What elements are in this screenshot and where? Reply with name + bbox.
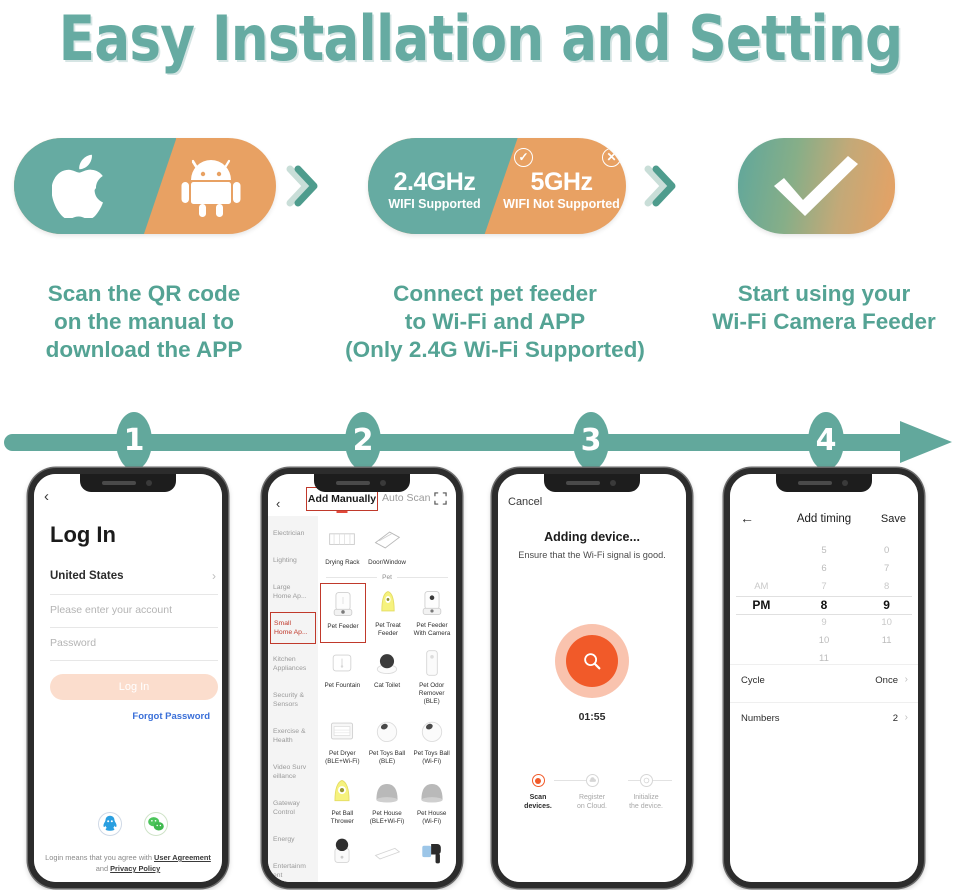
row-cycle-value: Once [875, 675, 898, 686]
hour-cell-2[interactable]: 7 [793, 578, 856, 596]
category-item-4[interactable]: KitchenAppliances [268, 646, 318, 682]
category-item-9[interactable]: Energy [268, 826, 318, 853]
scan-frame-icon[interactable] [434, 492, 447, 505]
add-device-screen: ‹ Add Manually Auto Scan ElectricianLigh… [268, 474, 456, 882]
add-device-body: ElectricianLightingLargeHome Ap...SmallH… [268, 516, 456, 882]
social-login-row [34, 812, 222, 838]
chevron-right-icon: › [212, 569, 216, 583]
check-circle-icon: ✓ [514, 148, 533, 167]
hour-cell-1[interactable]: 6 [793, 560, 856, 578]
device-item[interactable]: Pet BallThrower [320, 771, 365, 831]
device-item[interactable]: Pet House(BLE+Wi-Fi) [365, 771, 410, 831]
category-item-5[interactable]: Security &Sensors [268, 682, 318, 718]
category-item-0[interactable]: Electrician [268, 520, 318, 547]
pet-collar-icon [410, 834, 453, 868]
phone-notch [544, 474, 640, 492]
phone-notch [80, 474, 176, 492]
minute-cell-2[interactable]: 8 [855, 578, 918, 596]
picker-column-minute[interactable]: 07891011 [855, 542, 918, 668]
progress-step-label: Initializethe device. [620, 793, 672, 811]
ampm-cell-1[interactable] [730, 560, 793, 578]
progress-step-1: Registeron Cloud. [566, 774, 618, 811]
minute-cell-5[interactable]: 11 [855, 632, 918, 650]
step-badge-2: 2 [345, 412, 381, 470]
step-badge-1: 1 [116, 412, 152, 470]
device-item-label: Cat Toilet [366, 682, 409, 690]
step-badge-4: 4 [808, 412, 844, 470]
pet-treat-feeder-icon [367, 586, 409, 620]
device-item[interactable]: Pet Toys Ball(Wi-Fi) [409, 711, 454, 771]
cloud-icon [586, 774, 599, 787]
initialize-icon [640, 774, 653, 787]
ampm-cell-0[interactable] [730, 542, 793, 560]
phone-notch [314, 474, 410, 492]
picker-column-ampm[interactable]: AMPM [730, 542, 793, 668]
speaker-grille [102, 481, 136, 485]
drying-rack-icon [321, 523, 364, 557]
hour-cell-0[interactable]: 5 [793, 542, 856, 560]
device-row-0: Pet FeederPet TreatFeederPet FeederWith … [320, 583, 454, 643]
device-item[interactable]: Pet FeederWith Camera [410, 583, 454, 643]
cancel-button[interactable]: Cancel [508, 496, 542, 508]
page-title: Easy Installation and Setting [58, 8, 902, 70]
device-item[interactable]: Pet TreatFeeder [366, 583, 410, 643]
device-row-2: Pet Dryer(BLE+Wi-Fi)Pet Toys Ball(BLE)Pe… [320, 711, 454, 771]
adding-device-subtitle: Ensure that the Wi-Fi signal is good. [498, 550, 686, 560]
pet-camera-icon [321, 834, 364, 868]
pet-house-wifi-icon [410, 774, 453, 808]
user-agreement-link[interactable]: User Agreement [154, 853, 211, 862]
ampm-cell-5[interactable] [730, 632, 793, 650]
chevron-right-icon: › [905, 674, 908, 685]
speaker-grille [336, 481, 370, 485]
scan-dot-icon [532, 774, 545, 787]
minute-cell-1[interactable]: 7 [855, 560, 918, 578]
phone-notch [776, 474, 872, 492]
password-input[interactable]: Password [50, 632, 218, 661]
category-item-8[interactable]: GatewayControl [268, 790, 318, 826]
wifi-24ghz-label: 2.4GHz [370, 168, 499, 196]
device-item-label: Pet TreatFeeder [367, 622, 409, 638]
device-item-label: Pet Fountain [321, 682, 364, 690]
scanning-spinner [555, 624, 629, 698]
apple-android-pill [14, 138, 276, 234]
picker-column-hour[interactable]: 567891011 [793, 542, 856, 668]
time-picker[interactable]: AMPM 567891011 07891011 [730, 542, 918, 650]
device-item-label: Pet BallThrower [321, 810, 364, 826]
ampm-cell-4[interactable] [730, 614, 793, 632]
pet-fountain-icon [321, 646, 364, 680]
chevron-right-separator-icon [286, 164, 320, 208]
device-item-label: Pet OdorRemover(BLE) [410, 682, 453, 706]
device-item[interactable] [409, 831, 454, 875]
cross-circle-icon: ✕ [602, 148, 621, 167]
divider-left [326, 577, 377, 578]
device-item-empty [409, 520, 454, 572]
section-header-pet: Pet [320, 572, 454, 583]
category-item-2[interactable]: LargeHome Ap... [268, 574, 318, 610]
front-camera-icon [380, 480, 386, 486]
device-item[interactable]: Pet Fountain [320, 643, 365, 711]
wifi-24ghz-block: 2.4GHz WIFI Supported [370, 168, 499, 212]
back-icon[interactable]: ‹ [276, 496, 280, 511]
country-value: United States [50, 570, 124, 582]
ampm-cell-3-selected[interactable]: PM [730, 596, 793, 614]
door-window-icon [366, 523, 409, 557]
speaker-grille [798, 481, 832, 485]
row-numbers[interactable]: Numbers 2 › [730, 702, 918, 735]
wifi-5ghz-block: 5GHz WIFI Not Supported [497, 168, 626, 212]
success-check-pill [738, 138, 895, 234]
device-item[interactable]: Pet OdorRemover(BLE) [409, 643, 454, 711]
captions-row: Scan the QR codeon the manual todownload… [0, 272, 960, 382]
tab-active-underline [337, 511, 348, 513]
terms-and: and [96, 864, 110, 873]
device-item[interactable]: Pet Toys Ball(BLE) [365, 711, 410, 771]
phone-mockup-adding: Cancel Adding device... Ensure that the … [492, 468, 692, 888]
password-placeholder: Password [50, 637, 96, 649]
pet-mat-icon [366, 834, 409, 868]
wechat-login-icon[interactable] [144, 812, 168, 836]
caption-step-2: Connect pet feederto Wi-Fi and APP(Only … [330, 280, 660, 364]
phone-mockup-add-timing: ← Add timing Save AMPM 567891011 0789101… [724, 468, 924, 888]
device-item[interactable]: Drying Rack [320, 520, 365, 572]
device-item-label: Pet Toys Ball(Wi-Fi) [410, 750, 453, 766]
category-item-7[interactable]: Video Surveillance [268, 754, 318, 790]
device-item-label: Pet Dryer(BLE+Wi-Fi) [321, 750, 364, 766]
section-label: Pet [382, 574, 392, 581]
category-item-10[interactable]: Entertainment [268, 853, 318, 888]
device-item-label: Door/Window [366, 559, 409, 567]
apple-icon [52, 154, 114, 218]
qq-login-icon[interactable] [98, 812, 122, 836]
progress-step-0: Scandevices. [512, 774, 564, 811]
login-title: Log In [50, 522, 116, 548]
category-item-6[interactable]: Exercise &Health [268, 718, 318, 754]
pet-toys-ball-ble-icon [366, 714, 409, 748]
category-item-3[interactable]: SmallHome Ap... [270, 612, 316, 644]
login-button[interactable]: Log In [50, 674, 218, 700]
terms-prefix: Login means that you agree with [45, 853, 154, 862]
cat-toilet-icon [366, 646, 409, 680]
chevron-right-icon: › [905, 712, 908, 723]
progress-arrow: 1 2 3 4 [0, 412, 960, 470]
terms-text: Login means that you agree with User Agr… [42, 852, 214, 874]
chevron-right-separator-icon-2 [644, 164, 678, 208]
wifi-24ghz-sublabel: WIFI Supported [370, 196, 499, 212]
forgot-password-link[interactable]: Forgot Password [132, 711, 210, 722]
phone-mockup-login: ‹ Log In United States › Please enter yo… [28, 468, 228, 888]
ampm-cell-2[interactable]: AM [730, 578, 793, 596]
tab-auto-scan[interactable]: Auto Scan [382, 492, 430, 504]
pet-ball-thrower-icon [321, 774, 364, 808]
row-cycle-key: Cycle [741, 675, 765, 686]
pet-dryer-icon [321, 714, 364, 748]
page-title-banner: Easy Installation and Setting [0, 0, 960, 78]
account-input[interactable]: Please enter your account [50, 599, 218, 628]
adding-device-title: Adding device... [498, 530, 686, 544]
search-magnifier-icon [581, 650, 603, 672]
account-placeholder: Please enter your account [50, 604, 172, 616]
minute-cell-3-selected[interactable]: 9 [855, 596, 918, 614]
device-item[interactable]: Cat Toilet [365, 643, 410, 711]
login-screen: ‹ Log In United States › Please enter yo… [34, 474, 222, 882]
back-icon[interactable]: ‹ [44, 488, 49, 505]
device-item[interactable] [320, 831, 365, 875]
add-timing-screen: ← Add timing Save AMPM 567891011 0789101… [730, 474, 918, 882]
arrow-head [900, 421, 952, 463]
device-grid: Drying RackDoor/WindowPetPet FeederPet T… [318, 516, 456, 882]
android-icon [180, 156, 242, 218]
front-camera-icon [610, 480, 616, 486]
device-item-label: Drying Rack [321, 559, 364, 567]
pet-odor-remover-icon [410, 646, 453, 680]
check-icon [768, 154, 864, 218]
device-row-top: Drying RackDoor/Window [320, 520, 454, 572]
front-camera-icon [842, 480, 848, 486]
hour-cell-5[interactable]: 10 [793, 632, 856, 650]
device-row-4 [320, 831, 454, 875]
adding-device-screen: Cancel Adding device... Ensure that the … [498, 474, 686, 882]
device-item[interactable]: Pet Dryer(BLE+Wi-Fi) [320, 711, 365, 771]
row-cycle[interactable]: Cycle Once › [730, 664, 918, 697]
divider-right [397, 577, 448, 578]
front-camera-icon [146, 480, 152, 486]
device-item[interactable]: Pet House(Wi-Fi) [409, 771, 454, 831]
hour-cell-3-selected[interactable]: 8 [793, 596, 856, 614]
caption-step-1: Scan the QR codeon the manual todownload… [4, 280, 284, 364]
device-item-label: Pet House(BLE+Wi-Fi) [366, 810, 409, 826]
progress-step-label: Scandevices. [512, 793, 564, 811]
step-badge-3: 3 [573, 412, 609, 470]
caption-step-3: Start using yourWi-Fi Camera Feeder [690, 280, 958, 336]
country-selector[interactable]: United States › [50, 566, 218, 595]
row-numbers-key: Numbers [741, 713, 780, 724]
device-item-label: Pet House(Wi-Fi) [410, 810, 453, 826]
hour-cell-4[interactable]: 9 [793, 614, 856, 632]
category-item-1[interactable]: Lighting [268, 547, 318, 574]
device-row-3: Pet BallThrowerPet House(BLE+Wi-Fi)Pet H… [320, 771, 454, 831]
scanning-spinner-core [566, 635, 618, 687]
pet-toys-ball-wifi-icon [410, 714, 453, 748]
add-timing-header: ← Add timing Save [730, 510, 918, 534]
wifi-5ghz-label: 5GHz [497, 168, 626, 196]
device-row-1: Pet FountainCat ToiletPet OdorRemover(BL… [320, 643, 454, 711]
progress-step-2: Initializethe device. [620, 774, 672, 811]
privacy-policy-link[interactable]: Privacy Policy [110, 864, 160, 873]
countdown-timer: 01:55 [498, 711, 686, 723]
row-numbers-value: 2 [893, 713, 898, 724]
progress-steps: Scandevices.Registeron Cloud.Initializet… [512, 774, 672, 811]
pet-feeder-icon [322, 587, 364, 621]
pet-house-ble-icon [366, 774, 409, 808]
phone-mockup-add-device: ‹ Add Manually Auto Scan ElectricianLigh… [262, 468, 462, 888]
minute-cell-4[interactable]: 10 [855, 614, 918, 632]
speaker-grille [566, 481, 600, 485]
pet-feeder-camera-icon [411, 586, 453, 620]
progress-step-label: Registeron Cloud. [566, 793, 618, 811]
device-item-label: Pet FeederWith Camera [411, 622, 453, 638]
badge-row: 2.4GHz WIFI Supported 5GHz WIFI Not Supp… [0, 136, 960, 236]
minute-cell-0[interactable]: 0 [855, 542, 918, 560]
save-button[interactable]: Save [881, 513, 906, 525]
wifi-5ghz-sublabel: WIFI Not Supported [497, 196, 626, 212]
wifi-frequency-pill: 2.4GHz WIFI Supported 5GHz WIFI Not Supp… [368, 138, 626, 234]
device-item-selected[interactable]: Pet Feeder [320, 583, 366, 643]
device-item-label: Pet Toys Ball(BLE) [366, 750, 409, 766]
device-item-label: Pet Feeder [322, 623, 364, 631]
device-item[interactable] [365, 831, 410, 875]
category-sidebar: ElectricianLightingLargeHome Ap...SmallH… [268, 516, 318, 882]
device-item[interactable]: Door/Window [365, 520, 410, 572]
